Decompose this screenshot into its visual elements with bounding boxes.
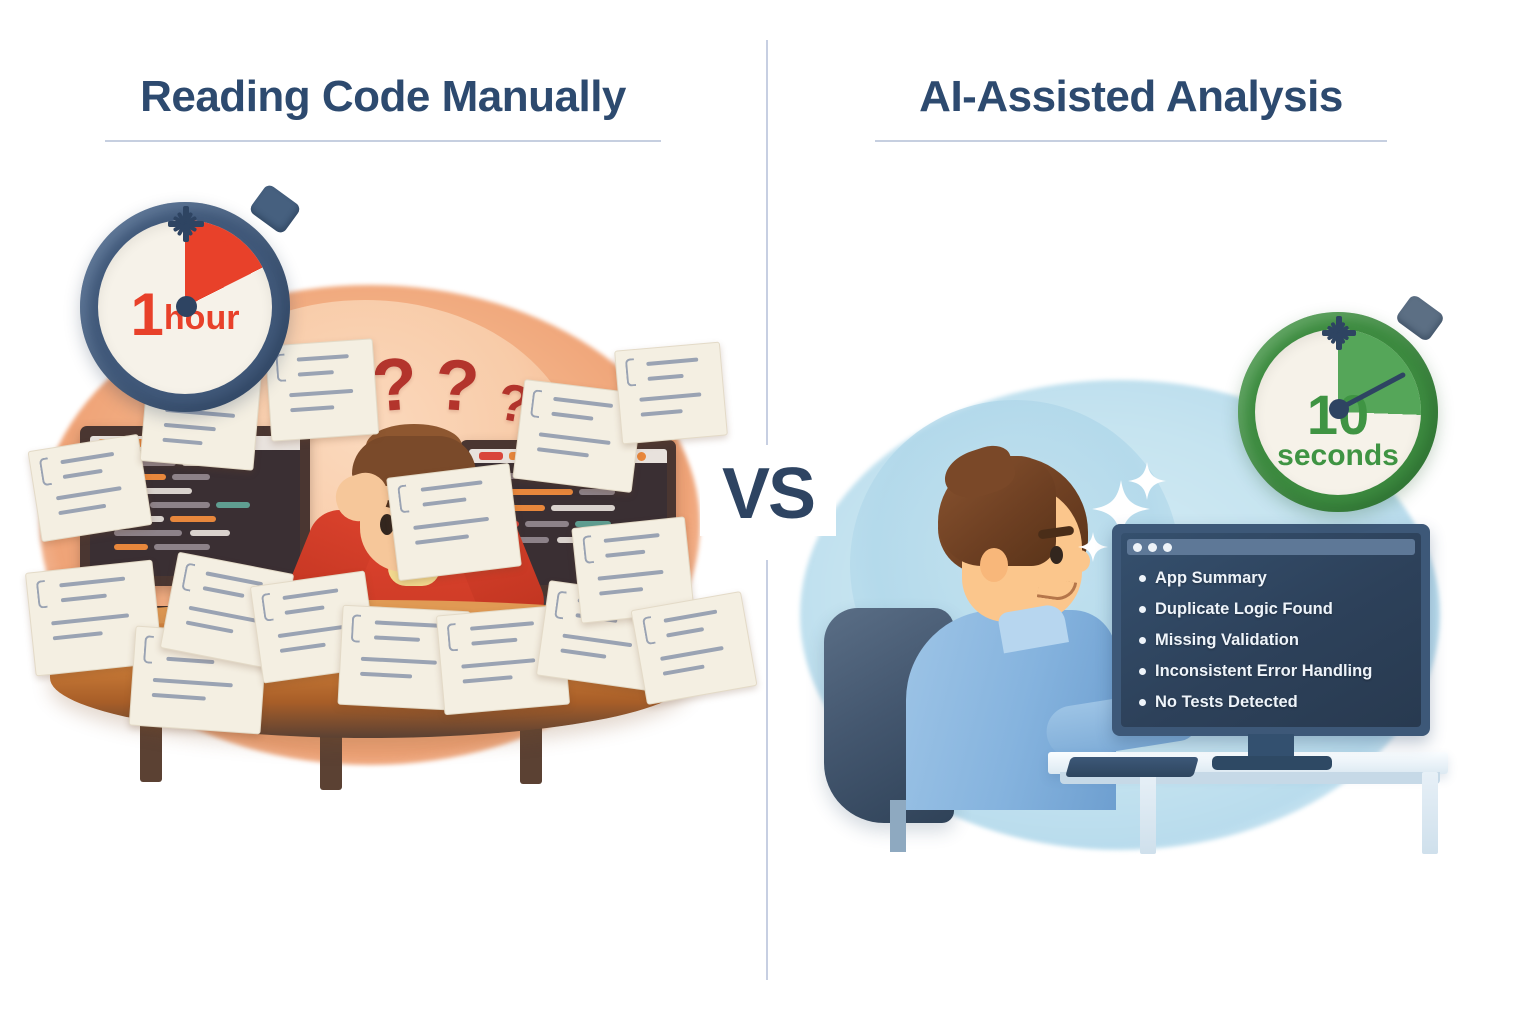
left-panel-title: Reading Code Manually <box>105 72 661 122</box>
stopwatch-unit: seconds <box>1262 442 1414 469</box>
code-paper <box>614 342 728 445</box>
finding-label: No Tests Detected <box>1155 693 1298 712</box>
stopwatch-pivot <box>1329 399 1349 419</box>
desk-leg <box>1140 772 1156 854</box>
bullet-icon <box>1139 637 1146 644</box>
panel-divider-top <box>766 40 768 445</box>
sparkle-icon <box>1128 462 1166 500</box>
comparison-infographic: ? ? ? ? <box>0 0 1536 1024</box>
desk-leg <box>1422 772 1438 854</box>
monitor-bezel: App Summary Duplicate Logic Found Missin… <box>1112 524 1430 736</box>
left-title-rule <box>105 140 661 142</box>
code-paper <box>27 434 152 542</box>
window-close-dot[interactable] <box>1133 543 1142 552</box>
developer-eye <box>1050 546 1063 564</box>
stopwatch-ten-seconds: 10 seconds <box>1232 302 1464 517</box>
bullet-icon <box>1139 575 1146 582</box>
keyboard <box>1065 757 1199 777</box>
code-paper <box>386 463 522 581</box>
monitor-foot <box>1212 756 1332 770</box>
list-item: Inconsistent Error Handling <box>1135 656 1415 687</box>
stopwatch-crown <box>248 183 302 235</box>
window-maximize-dot[interactable] <box>1163 543 1172 552</box>
stopwatch-one-hour: 1hour <box>72 190 322 415</box>
panel-divider-bottom <box>766 560 768 980</box>
list-item: Duplicate Logic Found <box>1135 594 1415 625</box>
window-minimize-dot[interactable] <box>1148 543 1157 552</box>
finding-label: Missing Validation <box>1155 631 1299 650</box>
bullet-icon <box>1139 606 1146 613</box>
stopwatch-value: 1 <box>131 288 164 342</box>
code-paper <box>631 591 758 705</box>
developer-ear <box>980 548 1008 582</box>
stopwatch-pivot <box>176 296 197 317</box>
right-title-rule <box>875 140 1387 142</box>
chair-post <box>890 800 906 852</box>
sparkle-icon <box>1078 532 1108 562</box>
ai-analysis-monitor: App Summary Duplicate Logic Found Missin… <box>1112 524 1430 736</box>
finding-label: App Summary <box>1155 569 1267 588</box>
ai-findings-list: App Summary Duplicate Logic Found Missin… <box>1135 563 1415 718</box>
list-item: No Tests Detected <box>1135 687 1415 718</box>
window-titlebar <box>1127 539 1415 555</box>
vs-label: VS <box>700 452 836 536</box>
finding-label: Inconsistent Error Handling <box>1155 662 1372 681</box>
bullet-icon <box>1139 699 1146 706</box>
monitor-screen: App Summary Duplicate Logic Found Missin… <box>1121 533 1421 727</box>
finding-label: Duplicate Logic Found <box>1155 600 1333 619</box>
list-item: App Summary <box>1135 563 1415 594</box>
list-item: Missing Validation <box>1135 625 1415 656</box>
bullet-icon <box>1139 668 1146 675</box>
right-panel-title: AI-Assisted Analysis <box>875 72 1387 122</box>
